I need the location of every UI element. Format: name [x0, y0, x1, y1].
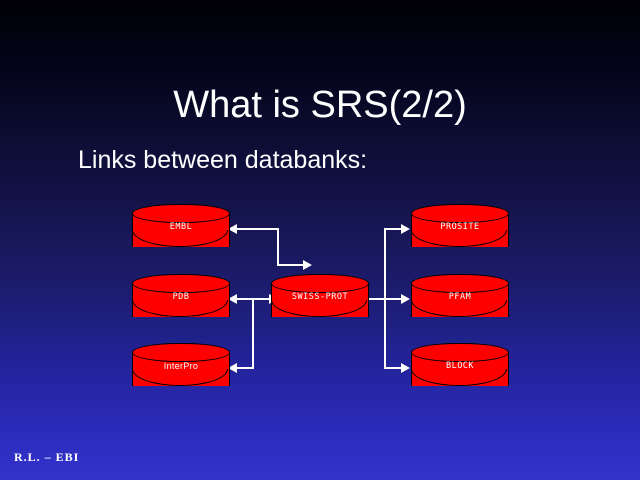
node-label-pfam: PFAM: [411, 291, 509, 303]
arrowhead-into-swissprot-top: [303, 260, 312, 270]
node-label-embl: EMBL: [132, 221, 230, 233]
slide: What is SRS(2/2) Links between databanks…: [0, 0, 640, 480]
node-label-prosite: PROSITE: [411, 221, 509, 233]
node-label-block: BLOCK: [411, 360, 509, 372]
connector-swissprot-interpro-vertical: [252, 298, 254, 369]
connector-swissprot-interpro-horizontal: [237, 367, 254, 369]
node-pdb[interactable]: PDB: [132, 274, 230, 326]
connector-swissprot-embl-vertical: [277, 228, 279, 266]
node-swiss-prot[interactable]: SWISS-PROT: [271, 274, 369, 326]
connector-right-trunk-vertical: [384, 228, 386, 369]
connector-pdb-swissprot: [237, 298, 271, 300]
databank-link-diagram: EMBL PDB InterPro SWISS-PROT PROSITE: [0, 0, 640, 480]
node-label-pdb: PDB: [132, 291, 230, 303]
node-embl[interactable]: EMBL: [132, 204, 230, 256]
node-block[interactable]: BLOCK: [411, 343, 509, 395]
node-pfam[interactable]: PFAM: [411, 274, 509, 326]
node-prosite[interactable]: PROSITE: [411, 204, 509, 256]
node-label-interpro: InterPro: [132, 360, 230, 372]
arrowhead-into-pfam: [401, 294, 410, 304]
connector-swissprot-right-stub: [369, 298, 403, 300]
connector-swissprot-embl-horizontal: [237, 228, 279, 230]
arrowhead-into-block: [401, 363, 410, 373]
slide-footer: R.L. – EBI: [14, 450, 79, 465]
node-interpro[interactable]: InterPro: [132, 343, 230, 395]
connector-embl-into-swissprot-horizontal: [277, 264, 305, 266]
arrowhead-into-prosite: [401, 224, 410, 234]
node-label-swiss-prot: SWISS-PROT: [271, 291, 369, 303]
